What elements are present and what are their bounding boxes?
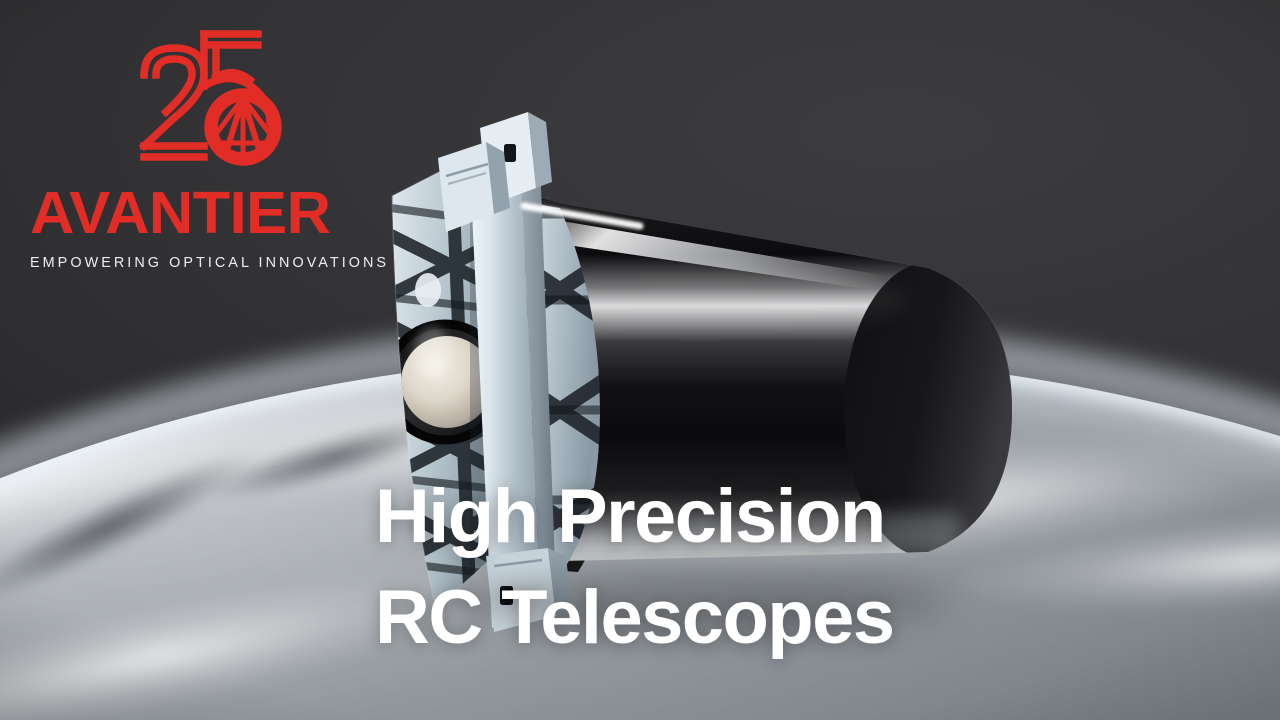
post-bolt (504, 144, 516, 162)
avantier-logo[interactable]: AVANTIER EMPOWERING OPTICAL INNOVATIONS (30, 22, 390, 270)
avantier-tagline: EMPOWERING OPTICAL INNOVATIONS (30, 256, 390, 270)
avantier-wordmark: AVANTIER (30, 184, 404, 243)
headline: High Precision RC Telescopes (375, 466, 893, 668)
headline-line-1: High Precision (375, 466, 893, 567)
anniversary-25-mark (130, 22, 300, 182)
headline-line-2: RC Telescopes (375, 567, 893, 668)
video-thumbnail: AVANTIER EMPOWERING OPTICAL INNOVATIONS … (0, 0, 1280, 720)
